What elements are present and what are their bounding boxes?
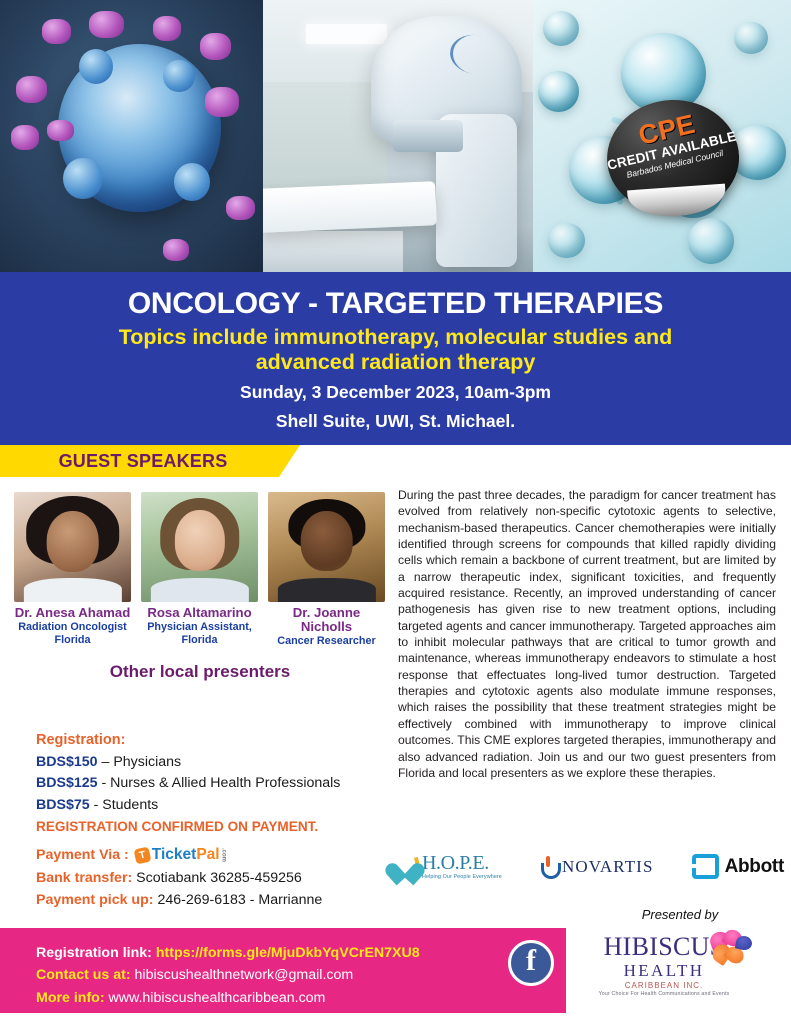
tier-price: BDS$125 [36,775,98,791]
tier-audience: Students [102,797,158,813]
speaker-photo-anesa-ahamad [14,492,131,602]
sponsor-logos: H.O.P.E. Helping Our People Everywhere N… [392,853,784,880]
hibiscus-flower-icon [708,930,754,970]
more-info-value[interactable]: www.hibiscushealthcaribbean.com [109,990,326,1006]
antibody-cluster [163,239,189,261]
facebook-icon[interactable]: f [508,940,554,986]
tier-separator: – [98,754,114,770]
speaker-role: Cancer Researcher [268,635,385,647]
molecule-atom [734,22,768,55]
speaker-role: Radiation Oncologist [14,621,131,633]
event-poster: ONCOLOGY - TARGETED THERAPIES Topics inc… [0,0,791,1023]
cell-spike [174,163,211,201]
registration-heading: Registration: [36,730,386,752]
guest-speakers-label: GUEST SPEAKERS [59,451,242,472]
ceiling-light [306,24,387,43]
hibiscus-health-logo: HIBISCUS HEALTH CARIBBEAN INC. Your Choi… [566,928,762,1012]
registration-link-value[interactable]: https://forms.gle/MjuDkbYqVCrEN7XU8 [156,945,420,961]
abbott-mark-icon [692,854,719,879]
speaker-photo-joanne-nicholls [268,492,385,602]
tier-audience: Nurses & Allied Health Professionals [110,775,340,791]
molecule-atom [548,223,584,258]
badge-text: CPE CREDIT AVAILABLE Barbados Medical Co… [596,87,750,226]
antibody-cluster [47,120,73,142]
antibody-cluster [11,125,40,149]
torso-shape [23,578,121,602]
face-shape [300,511,353,572]
antibody-cluster [205,87,239,117]
bank-transfer-value: Scotiabank 36285-459256 [136,867,302,889]
abbott-logo: Abbott [692,854,784,879]
speaker-card: Dr. Anesa Ahamad Radiation Oncologist Fl… [14,492,131,647]
payment-via-row: Payment Via : TicketPal .com [36,843,396,867]
payment-via-label: Payment Via : [36,844,129,866]
tier-separator: - [90,797,103,813]
event-date: Sunday, 3 December 2023, 10am-3pm [0,382,791,403]
payment-pickup-label: Payment pick up: [36,889,153,911]
bank-transfer-row: Bank transfer: Scotiabank 36285-459256 [36,867,396,889]
payment-pickup-value: 246-269-6183 - Marrianne [157,889,322,911]
swoosh-icon [405,857,421,877]
registration-tier: BDS$150 – Physicians [36,752,386,774]
cell-spike [163,60,195,93]
contact-row: Contact us at: hibiscushealthnetwork@gma… [36,964,420,986]
machine-base [263,231,403,272]
footer-lines: Registration link: https://forms.gle/Mju… [36,942,420,1009]
registration-confirm-note: REGISTRATION CONFIRMED ON PAYMENT. [36,816,386,838]
payment-pickup-row: Payment pick up: 246-269-6183 - Marriann… [36,889,396,911]
tier-separator: - [98,775,111,791]
antibody-cluster [42,19,71,43]
description-paragraph: During the past three decades, the parad… [398,487,776,781]
ticketpal-logo[interactable]: TicketPal .com [135,843,227,867]
ticketpal-part2: Pal [196,843,219,867]
patient-couch [263,181,437,232]
registration-block: Registration: BDS$150 – Physicians BDS$1… [36,730,386,838]
subtitle: Topics include immunotherapy, molecular … [0,325,791,375]
linear-accelerator-photo [263,0,533,272]
speaker-name: Rosa Altamarino [141,606,258,620]
molecule-atom [688,218,734,264]
banner-shape: GUEST SPEAKERS [0,445,300,477]
speaker-name: Dr. Anesa Ahamad [14,606,131,620]
hope-tagline: Helping Our People Everywhere [422,874,502,880]
speaker-card: Rosa Altamarino Physician Assistant, Flo… [141,492,258,647]
payment-block: Payment Via : TicketPal .com Bank transf… [36,843,396,911]
speaker-location: Florida [141,634,258,646]
registration-link-row: Registration link: https://forms.gle/Mju… [36,942,420,964]
speaker-card: Dr. Joanne Nicholls Cancer Researcher [268,492,385,647]
treatment-head [393,120,463,153]
heart-icon [392,854,419,879]
tier-price: BDS$75 [36,797,90,813]
hope-logo: H.O.P.E. Helping Our People Everywhere [392,853,502,880]
contact-label: Contact us at: [36,967,131,983]
speaker-name: Dr. Joanne Nicholls [268,606,385,634]
tier-audience: Physicians [113,754,181,770]
hibiscus-name-line3: CARIBBEAN INC. [566,981,762,990]
torso-shape [277,578,375,602]
tier-price: BDS$150 [36,754,98,770]
ticket-icon [133,846,151,864]
antibody-cluster [16,76,48,103]
antibody-cluster [200,33,232,60]
registration-link-label: Registration link: [36,945,152,961]
flower-petal [735,934,754,951]
ticketpal-part1: Ticket [152,843,197,867]
antibody-cluster [153,16,182,40]
cell-spike [63,158,102,199]
hibiscus-tagline: Your Choice For Health Communications an… [566,991,762,997]
title-band: ONCOLOGY - TARGETED THERAPIES Topics inc… [0,272,791,445]
more-info-label: More info: [36,990,105,1006]
contact-value[interactable]: hibiscushealthnetwork@gmail.com [135,967,354,983]
ticketpal-suffix: .com [221,848,227,862]
page-title: ONCOLOGY - TARGETED THERAPIES [0,288,791,320]
cpe-credit-badge: CPE CREDIT AVAILABLE Barbados Medical Co… [607,100,739,212]
presented-by-label: Presented by [600,907,760,922]
abbott-name: Abbott [725,856,784,878]
molecule-atom [538,71,579,112]
antibody-cluster [89,11,123,38]
guest-speakers-banner: GUEST SPEAKERS [0,445,300,477]
gantry-stripe [447,31,503,77]
more-info-row: More info: www.hibiscushealthcaribbean.c… [36,987,420,1009]
speakers-list: Dr. Anesa Ahamad Radiation Oncologist Fl… [14,492,386,647]
novartis-mark-icon [540,856,557,877]
registration-tier: BDS$125 - Nurses & Allied Health Profess… [36,773,386,795]
face-shape [46,511,99,573]
immune-cell-antibodies-photo [0,0,263,272]
speaker-photo-rosa-altamarino [141,492,258,602]
novartis-logo: NOVARTIS [540,856,654,877]
antibody-cluster [226,196,255,220]
event-venue: Shell Suite, UWI, St. Michael. [0,411,791,432]
facebook-glyph: f [526,946,536,976]
torso-shape [150,578,248,602]
speaker-role: Physician Assistant, [141,621,258,633]
molecule-atom [543,11,579,46]
speaker-location: Florida [14,634,131,646]
registration-tier: BDS$75 - Students [36,795,386,817]
novartis-name: NOVARTIS [562,857,654,877]
footer-contact-bar: Registration link: https://forms.gle/Mju… [0,928,566,1013]
hope-name: H.O.P.E. [422,853,502,873]
bank-transfer-label: Bank transfer: [36,867,132,889]
face-shape [174,510,224,572]
other-presenters-label: Other local presenters [14,662,386,682]
hope-text: H.O.P.E. Helping Our People Everywhere [422,853,502,880]
